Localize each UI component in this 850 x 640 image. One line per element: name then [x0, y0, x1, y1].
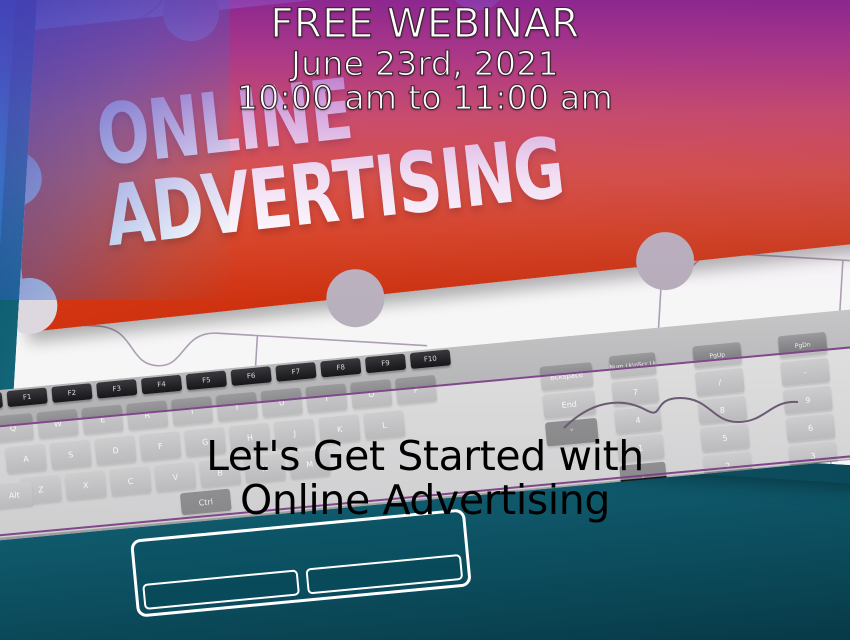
key-j[interactable]: J: [274, 418, 316, 448]
trackpad-left-button[interactable]: [142, 569, 300, 610]
key-f[interactable]: F: [139, 431, 181, 461]
key-w[interactable]: W: [37, 409, 79, 439]
key-end[interactable]: End: [542, 390, 596, 419]
key-num-9[interactable]: 9: [783, 386, 833, 414]
key-b[interactable]: B: [199, 458, 241, 488]
key-l[interactable]: L: [363, 410, 405, 440]
key-num-slash[interactable]: /: [695, 368, 745, 396]
key-r[interactable]: R: [126, 400, 168, 430]
key-num-8[interactable]: 8: [697, 396, 747, 424]
key-num-4[interactable]: 4: [614, 406, 662, 434]
key-h[interactable]: H: [229, 423, 271, 453]
key-m[interactable]: M: [289, 449, 331, 479]
webinar-banner: ONLINE ADVERTISING Esc F1 F2 F3 F4 F5 F6…: [0, 0, 850, 640]
key-a[interactable]: A: [5, 444, 47, 474]
key-k[interactable]: K: [318, 414, 360, 444]
key-arrow-down[interactable]: ˅: [545, 418, 599, 447]
key-num-6[interactable]: 6: [785, 414, 835, 442]
key-q[interactable]: Q: [0, 413, 34, 443]
key-e[interactable]: E: [81, 404, 123, 434]
key-num-1[interactable]: 1: [617, 434, 665, 462]
key-ctrl[interactable]: Ctrl: [180, 489, 232, 516]
trackpad-right-button[interactable]: [305, 554, 463, 595]
key-num-5[interactable]: 5: [700, 424, 750, 452]
key-n[interactable]: N: [244, 453, 286, 483]
key-v[interactable]: V: [154, 462, 196, 492]
key-s[interactable]: S: [50, 440, 92, 470]
key-num-7[interactable]: 7: [611, 378, 659, 406]
key-x[interactable]: X: [65, 470, 107, 500]
keyboard-ctrl-group: Ctrl: [180, 489, 232, 516]
key-pgup[interactable]: PgUp: [692, 342, 742, 368]
key-alt[interactable]: Alt: [0, 481, 33, 508]
key-d[interactable]: D: [94, 435, 136, 465]
key-num-minus[interactable]: -: [780, 358, 830, 386]
key-g[interactable]: G: [184, 427, 226, 457]
key-c[interactable]: C: [109, 466, 151, 496]
